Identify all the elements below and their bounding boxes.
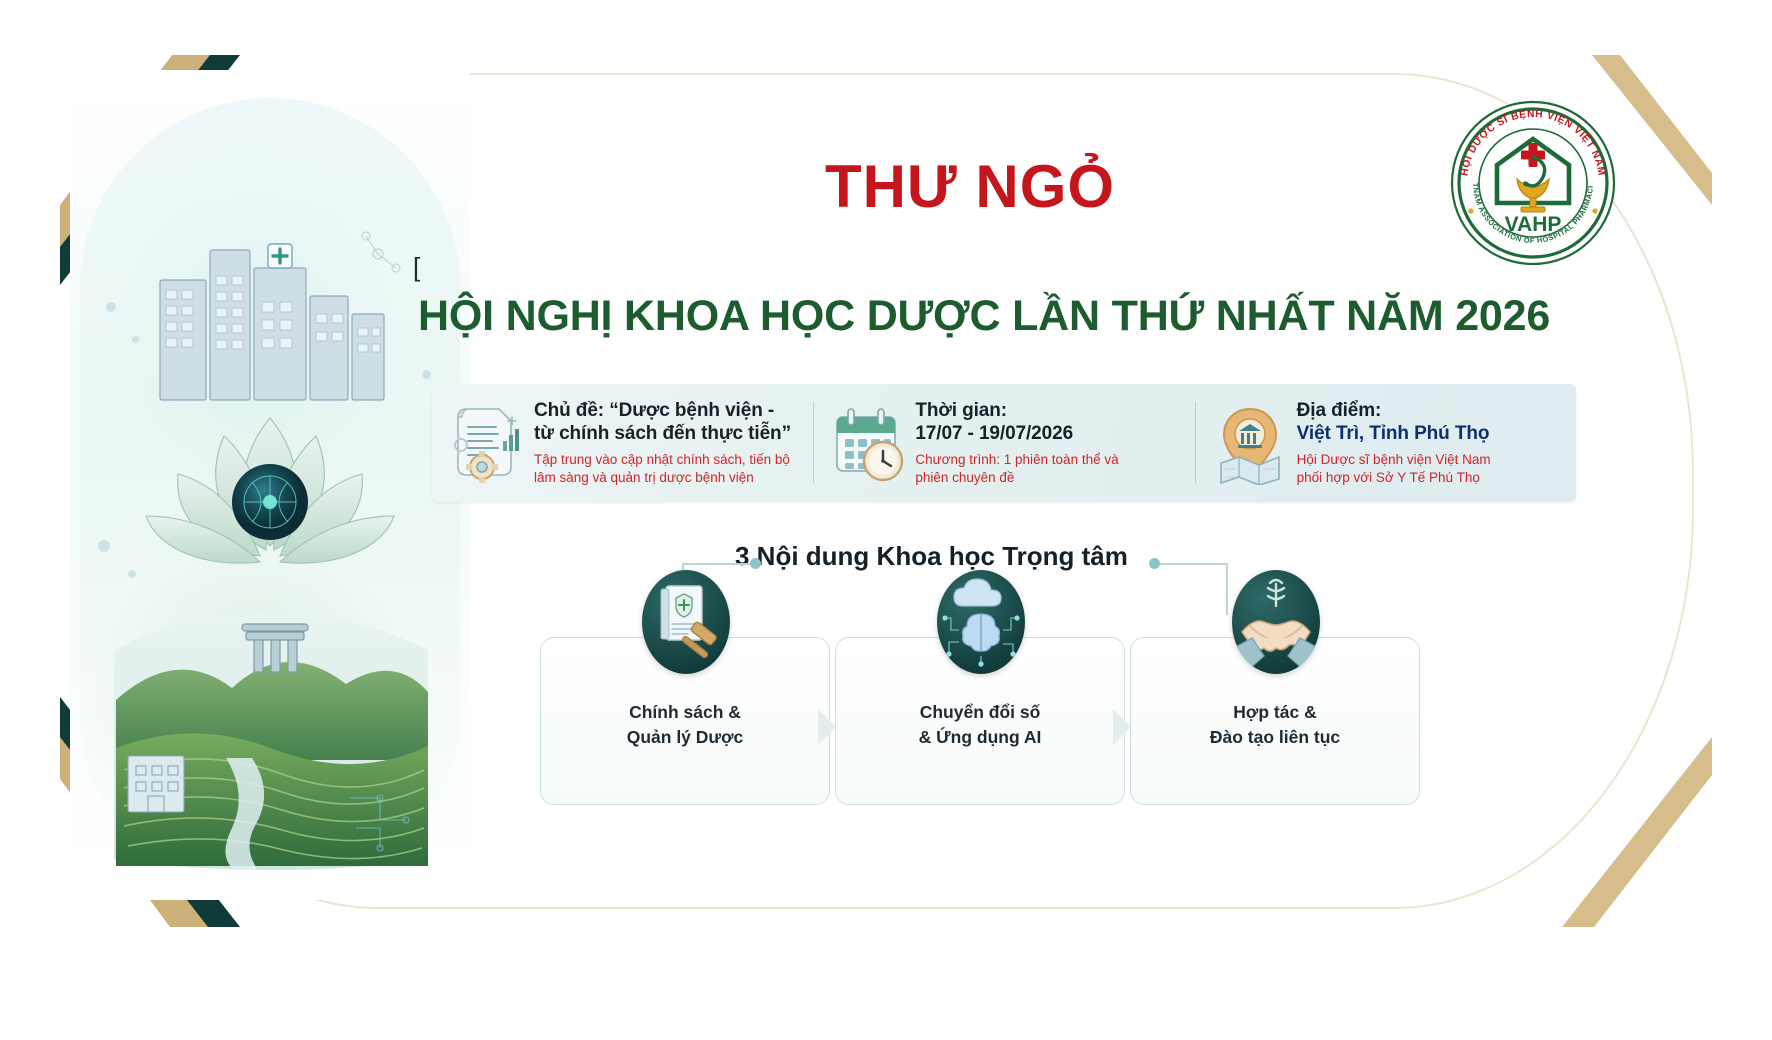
molecule-dot xyxy=(132,336,139,343)
focus-connector-left xyxy=(682,563,750,565)
focus-elbow-right xyxy=(1226,563,1228,615)
time-heading: Thời gian: 17/07 - 19/07/2026 xyxy=(915,399,1186,446)
landscape-terrace-icon xyxy=(106,580,436,870)
page-kicker: THƯ NGỎ xyxy=(470,152,1470,221)
title-bracket: [ xyxy=(413,252,420,283)
vahp-seal-logo: HỘI DƯỢC SĨ BỆNH VIỆN VIỆT NAM VIETNAM A… xyxy=(1449,99,1617,267)
location-label: Địa điểm: xyxy=(1297,400,1382,421)
handshake-caduceus-icon xyxy=(1232,570,1320,674)
info-cell-topic: Chủ đề: “Dược bệnh viện - từ chính sách … xyxy=(432,384,813,502)
topic-heading: Chủ đề: “Dược bệnh viện - từ chính sách … xyxy=(534,399,805,446)
molecule-dot xyxy=(422,370,431,379)
caduceus-glyph xyxy=(1268,580,1284,606)
info-strip: Chủ đề: “Dược bệnh viện - từ chính sách … xyxy=(432,384,1576,502)
info-cell-time: Thời gian: 17/07 - 19/07/2026 Chương trì… xyxy=(813,384,1194,502)
focus-dot-left-icon xyxy=(750,558,761,569)
focus-card-policy-label: Chính sách & Quản lý Dược xyxy=(541,700,829,751)
focus-card-digital-label: Chuyển đổi số & Ứng dụng AI xyxy=(836,700,1124,751)
hero-illustration xyxy=(70,70,470,900)
molecule-dot xyxy=(128,570,136,578)
corner-bottom-right-white xyxy=(1594,775,1712,927)
focus-card-cooperation-label: Hợp tác & Đào tạo liên tục xyxy=(1131,700,1419,751)
info-cell-location: Địa điểm: Việt Trì, Tỉnh Phú Thọ Hội Dượ… xyxy=(1195,384,1576,502)
poster-canvas: HỘI DƯỢC SĨ BỆNH VIỆN VIỆT NAM VIETNAM A… xyxy=(0,0,1772,1040)
focus-card-list: Chính sách & Quản lý Dược xyxy=(540,637,1550,807)
cloud-glyph xyxy=(954,579,1001,606)
open-map-glyph xyxy=(1221,457,1279,485)
hospital-building-icon xyxy=(128,756,184,812)
focus-card-cooperation[interactable]: Hợp tác & Đào tạo liên tục xyxy=(1130,637,1420,805)
location-sub: Hội Dược sĩ bệnh viện Việt Nam phối hợp … xyxy=(1297,451,1568,487)
location-heading: Địa điểm: Việt Trì, Tỉnh Phú Thọ xyxy=(1297,399,1568,446)
focus-section-heading: 3 Nội dung Khoa học Trọng tâm xyxy=(735,541,1128,572)
flow-arrow-2-icon xyxy=(1113,709,1131,745)
topic-sub: Tập trung vào cập nhật chính sách, tiến … xyxy=(534,451,805,487)
map-pin-building-icon xyxy=(1211,401,1289,485)
location-value: Việt Trì, Tỉnh Phú Thọ xyxy=(1297,423,1490,444)
time-label: Thời gian: xyxy=(915,400,1007,421)
lotus-globe-icon xyxy=(120,370,420,600)
info-text-time: Thời gian: 17/07 - 19/07/2026 Chương trì… xyxy=(915,399,1186,488)
time-sub: Chương trình: 1 phiên toàn thể và phiên … xyxy=(915,451,1186,487)
corner-top-right-white xyxy=(1620,55,1712,173)
page-title: HỘI NGHỊ KHOA HỌC DƯỢC LẦN THỨ NHẤT NĂM … xyxy=(418,292,1543,341)
calendar-clock-icon xyxy=(829,401,907,485)
focus-connector-right xyxy=(1160,563,1228,565)
gavel-document-icon xyxy=(642,570,730,674)
document-gear-chart-icon xyxy=(448,401,526,485)
seal-acronym: VAHP xyxy=(1505,213,1562,236)
focus-dot-right-icon xyxy=(1149,558,1160,569)
molecule-dot xyxy=(106,302,116,312)
time-value: 17/07 - 19/07/2026 xyxy=(915,423,1073,444)
info-text-location: Địa điểm: Việt Trì, Tỉnh Phú Thọ Hội Dượ… xyxy=(1297,399,1568,488)
molecule-dot xyxy=(98,540,110,552)
info-text-topic: Chủ đề: “Dược bệnh viện - từ chính sách … xyxy=(534,399,805,488)
flow-arrow-1-icon xyxy=(818,709,836,745)
focus-card-policy[interactable]: Chính sách & Quản lý Dược xyxy=(540,637,830,805)
focus-card-digital[interactable]: Chuyển đổi số & Ứng dụng AI xyxy=(835,637,1125,805)
ai-brain-cloud-icon xyxy=(937,570,1025,674)
